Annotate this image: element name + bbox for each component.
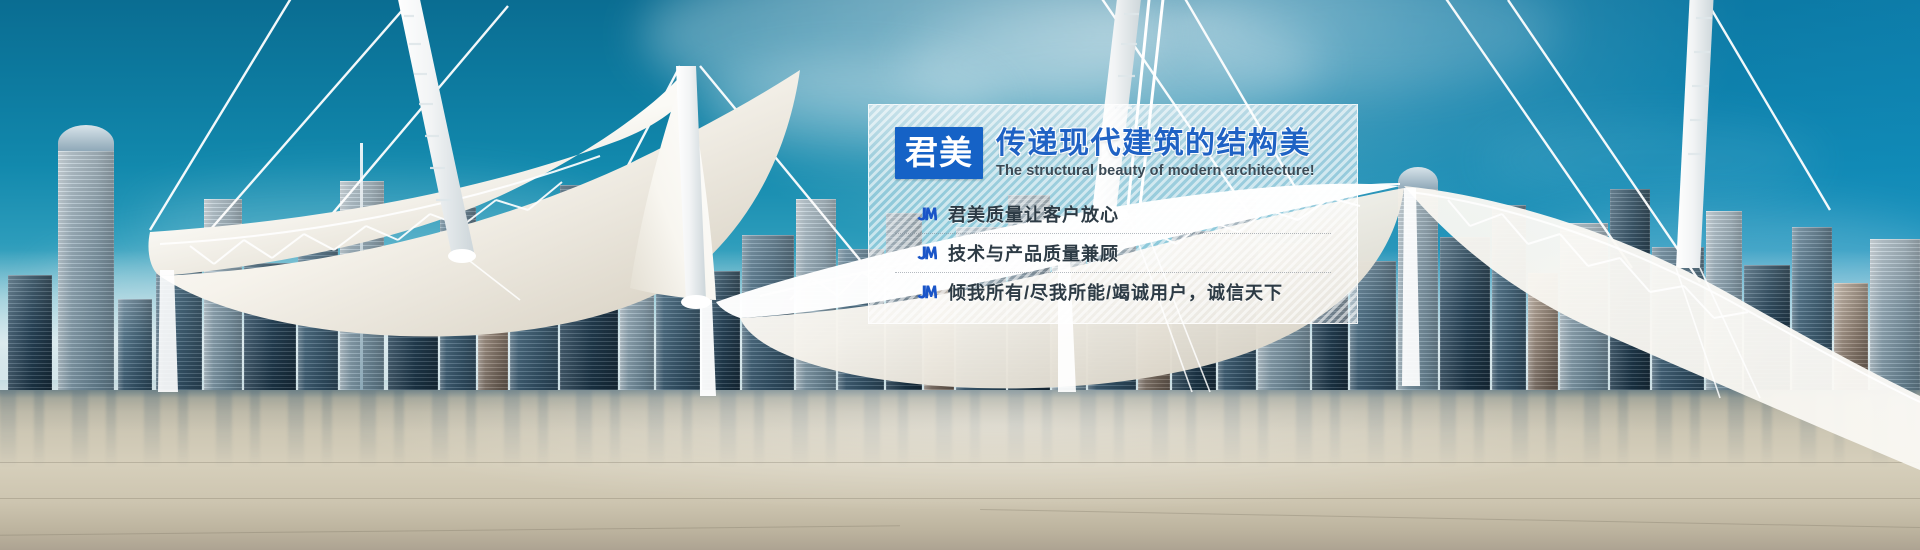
skyscraper [58,143,114,395]
skyscraper [204,199,242,395]
headline-chinese: 传递现代建筑的结构美 [996,128,1315,160]
skyscraper [1706,211,1742,395]
skyscraper [1870,239,1920,395]
skyscraper [1834,283,1868,395]
junmei-logo-badge[interactable]: 君美 [895,127,983,179]
skyscraper [1492,205,1526,395]
skyscraper [298,219,338,395]
headline-text-block: 传递现代建筑的结构美 The structural beauty of mode… [996,127,1315,179]
skyscraper [510,231,558,395]
jm-monogram-icon [915,206,937,222]
jm-monogram-icon [915,245,937,261]
skyscraper [1398,181,1438,395]
list-item-label: 技术与产品质量兼顾 [948,240,1119,266]
skyscraper [1792,227,1832,395]
feature-bullet-list: 君美质量让客户放心 技术与产品质量兼顾 倾我 [895,195,1357,311]
skyscraper [440,207,476,395]
list-item-label: 倾我所有/尽我所能/竭诚用户，诚信天下 [948,279,1283,305]
tower-spire [360,143,363,395]
skyscraper [156,237,202,395]
skyscraper [478,275,508,395]
skyscraper [388,245,438,395]
skyscraper [118,299,152,395]
skyscraper [1528,273,1558,395]
list-item: 倾我所有/尽我所能/竭诚用户，诚信天下 [895,272,1331,311]
skyscraper [796,199,836,395]
skyscraper [1610,189,1650,395]
skyscraper [560,185,618,395]
paving-line [0,462,1920,463]
skyscraper [1560,223,1608,395]
skyscraper [1652,247,1704,395]
headline-row: 君美 传递现代建筑的结构美 The structural beauty of m… [895,127,1357,179]
tower-cap [1398,167,1438,189]
skyscraper [1744,265,1790,395]
list-item: 君美质量让客户放心 [895,195,1331,233]
content-panel: 君美 传递现代建筑的结构美 The structural beauty of m… [868,104,1358,324]
skyscraper [620,253,654,395]
skyscraper [656,217,700,395]
skyscraper [244,263,296,395]
skyscraper [1440,237,1490,395]
ground-sheen [0,390,1920,550]
skyscraper [702,271,740,395]
plaza-ground [0,390,1920,550]
headline-english: The structural beauty of modern architec… [996,163,1315,179]
jm-monogram-icon [915,284,937,300]
paving-line [0,498,1920,499]
skyscraper [742,235,794,395]
hero-banner: 君美 传递现代建筑的结构美 The structural beauty of m… [0,0,1920,550]
list-item: 技术与产品质量兼顾 [895,233,1331,272]
list-item-label: 君美质量让客户放心 [948,201,1119,227]
skyscraper [8,275,52,395]
